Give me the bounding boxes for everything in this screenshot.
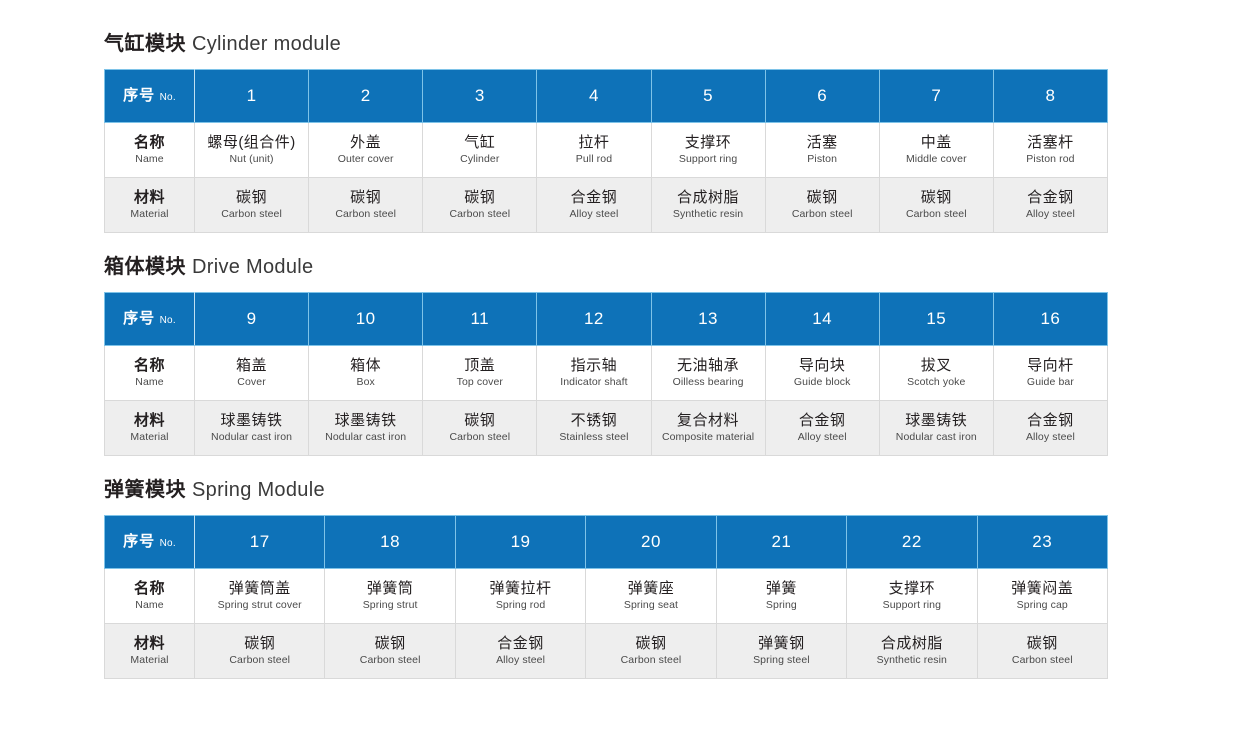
row-label-material: 材料 Material [105, 624, 195, 679]
cell-material-cn: 合金钢 [766, 412, 879, 430]
cell-no-value: 20 [641, 532, 661, 551]
cell-no: 21 [716, 516, 846, 569]
cell-name-cn: 箱体 [309, 357, 422, 375]
cell-no: 7 [879, 70, 993, 123]
row-label-no-cn: 序号 [123, 310, 155, 327]
cell-name-en: Pull rod [537, 152, 650, 166]
cell-no-value: 13 [698, 309, 718, 328]
cell-name-cn: 螺母(组合件) [195, 134, 308, 152]
cell-name-en: Cover [195, 375, 308, 389]
cell-material-cn: 碳钢 [978, 635, 1107, 653]
cell-no-value: 4 [589, 86, 599, 105]
cell-name-cn: 拉杆 [537, 134, 650, 152]
cell-name-cn: 箱盖 [195, 357, 308, 375]
cell-material-en: Alloy steel [456, 653, 585, 667]
cell-material: 碳钢Carbon steel [423, 401, 537, 456]
cell-name-en: Top cover [423, 375, 536, 389]
cell-name-en: Outer cover [309, 152, 422, 166]
cell-material-en: Carbon steel [880, 207, 993, 221]
row-label-material: 材料 Material [105, 401, 195, 456]
cell-name-en: Support ring [847, 598, 976, 612]
cell-material-en: Carbon steel [423, 430, 536, 444]
cell-material: 碳钢Carbon steel [325, 624, 455, 679]
cell-material-cn: 碳钢 [880, 189, 993, 207]
cell-no-value: 21 [771, 532, 791, 551]
cell-no-value: 19 [511, 532, 531, 551]
cell-material: 碳钢Carbon steel [195, 624, 325, 679]
cell-name-cn: 支撑环 [847, 580, 976, 598]
cell-name-cn: 指示轴 [537, 357, 650, 375]
cell-material: 合金钢Alloy steel [993, 401, 1107, 456]
row-label-name-cn: 名称 [105, 580, 194, 598]
cell-name-en: Nut (unit) [195, 152, 308, 166]
cell-name: 顶盖Top cover [423, 346, 537, 401]
cell-material-en: Nodular cast iron [880, 430, 993, 444]
row-label-material-en: Material [105, 207, 194, 221]
table-row-no: 序号 No. 9 10 11 12 13 14 15 16 [105, 293, 1108, 346]
cell-name: 导向杆Guide bar [993, 346, 1107, 401]
row-label-no: 序号 No. [105, 516, 195, 569]
cell-name-cn: 弹簧座 [586, 580, 715, 598]
cell-material-cn: 合成树脂 [652, 189, 765, 207]
cell-material: 碳钢Carbon steel [309, 178, 423, 233]
section-spring-module: 弹簧模块Spring Module 序号 No. 17 18 19 20 21 … [104, 456, 1240, 679]
cell-material: 合金钢Alloy steel [765, 401, 879, 456]
cell-no: 16 [993, 293, 1107, 346]
cell-material: 合金钢Alloy steel [993, 178, 1107, 233]
cell-name: 支撑环Support ring [651, 123, 765, 178]
cell-material: 合成树脂Synthetic resin [847, 624, 977, 679]
cell-name: 外盖Outer cover [309, 123, 423, 178]
cell-material: 碳钢Carbon steel [423, 178, 537, 233]
cell-material-cn: 碳钢 [309, 189, 422, 207]
row-label-name-en: Name [105, 152, 194, 166]
cell-no: 6 [765, 70, 879, 123]
cell-name-cn: 导向块 [766, 357, 879, 375]
cell-name-cn: 弹簧筒盖 [195, 580, 324, 598]
cell-material-cn: 碳钢 [586, 635, 715, 653]
cell-material: 碳钢Carbon steel [586, 624, 716, 679]
row-label-material: 材料 Material [105, 178, 195, 233]
cell-material-cn: 碳钢 [195, 635, 324, 653]
cell-material-en: Carbon steel [195, 207, 308, 221]
cell-material-cn: 合金钢 [994, 189, 1107, 207]
row-label-material-cn: 材料 [105, 412, 194, 430]
title-spacer [104, 54, 1240, 69]
cell-name: 弹簧闷盖Spring cap [977, 569, 1107, 624]
cell-name-en: Spring cap [978, 598, 1107, 612]
table-row-material: 材料 Material 球墨铸铁Nodular cast iron 球墨铸铁No… [105, 401, 1108, 456]
cell-name: 弹簧筒Spring strut [325, 569, 455, 624]
cell-name: 弹簧筒盖Spring strut cover [195, 569, 325, 624]
cell-material-en: Alloy steel [994, 430, 1107, 444]
cell-no: 23 [977, 516, 1107, 569]
cell-name-en: Middle cover [880, 152, 993, 166]
cell-material-cn: 球墨铸铁 [309, 412, 422, 430]
row-label-no: 序号 No. [105, 70, 195, 123]
cell-name: 拉杆Pull rod [537, 123, 651, 178]
cell-name-cn: 活塞杆 [994, 134, 1107, 152]
cell-no: 18 [325, 516, 455, 569]
cell-material: 碳钢Carbon steel [977, 624, 1107, 679]
cell-name-en: Piston rod [994, 152, 1107, 166]
cell-name-en: Spring strut [325, 598, 454, 612]
table-row-name: 名称 Name 箱盖Cover 箱体Box 顶盖Top cover 指示轴Ind… [105, 346, 1108, 401]
section-title-cn: 箱体模块 [104, 256, 186, 278]
cell-no-value: 2 [361, 86, 371, 105]
cell-name: 中盖Middle cover [879, 123, 993, 178]
table-row-no: 序号 No. 1 2 3 4 5 6 7 8 [105, 70, 1108, 123]
cell-no-value: 3 [475, 86, 485, 105]
cell-material: 合金钢Alloy steel [455, 624, 585, 679]
cell-no-value: 14 [812, 309, 832, 328]
cell-material: 碳钢Carbon steel [765, 178, 879, 233]
cell-material-en: Synthetic resin [847, 653, 976, 667]
cell-material-en: Synthetic resin [652, 207, 765, 221]
cell-material-cn: 不锈钢 [537, 412, 650, 430]
cell-material-cn: 碳钢 [325, 635, 454, 653]
cell-name-en: Oilless bearing [652, 375, 765, 389]
cell-no-value: 6 [817, 86, 827, 105]
spec-table-drive-module: 序号 No. 9 10 11 12 13 14 15 16 名称 Name [104, 292, 1108, 456]
cell-no-value: 1 [247, 86, 257, 105]
cell-material-cn: 弹簧钢 [717, 635, 846, 653]
cell-material-en: Carbon steel [325, 653, 454, 667]
cell-name: 支撑环Support ring [847, 569, 977, 624]
row-label-material-en: Material [105, 430, 194, 444]
cell-name-en: Support ring [652, 152, 765, 166]
cell-material: 弹簧钢Spring steel [716, 624, 846, 679]
row-label-name-cn: 名称 [105, 357, 194, 375]
cell-material-cn: 合金钢 [994, 412, 1107, 430]
cell-name-cn: 气缸 [423, 134, 536, 152]
cell-name: 弹簧座Spring seat [586, 569, 716, 624]
cell-no: 3 [423, 70, 537, 123]
cell-no: 11 [423, 293, 537, 346]
cell-material-en: Spring steel [717, 653, 846, 667]
row-label-name-cn: 名称 [105, 134, 194, 152]
cell-no: 22 [847, 516, 977, 569]
cell-name-cn: 弹簧拉杆 [456, 580, 585, 598]
cell-material-en: Nodular cast iron [195, 430, 308, 444]
cell-no: 13 [651, 293, 765, 346]
section-title-en: Spring Module [192, 479, 325, 501]
cell-name-en: Spring seat [586, 598, 715, 612]
cell-material-en: Alloy steel [537, 207, 650, 221]
section-title-spring-module: 弹簧模块Spring Module [104, 480, 1240, 500]
cell-material-cn: 合金钢 [456, 635, 585, 653]
cell-name-en: Piston [766, 152, 879, 166]
cell-material-cn: 合金钢 [537, 189, 650, 207]
title-spacer [104, 500, 1240, 515]
cell-material-cn: 碳钢 [423, 412, 536, 430]
cell-name-en: Spring rod [456, 598, 585, 612]
section-drive-module: 箱体模块Drive Module 序号 No. 9 10 11 12 13 14… [104, 233, 1240, 456]
cell-no: 17 [195, 516, 325, 569]
table-row-name: 名称 Name 弹簧筒盖Spring strut cover 弹簧筒Spring… [105, 569, 1108, 624]
row-label-no-en: No. [160, 92, 176, 103]
cell-name: 弹簧Spring [716, 569, 846, 624]
section-title-en: Drive Module [192, 256, 313, 278]
cell-material: 碳钢Carbon steel [195, 178, 309, 233]
row-label-no-cn: 序号 [123, 533, 155, 550]
cell-material-en: Carbon steel [423, 207, 536, 221]
cell-no-value: 12 [584, 309, 604, 328]
cell-name-en: Scotch yoke [880, 375, 993, 389]
cell-name: 活塞杆Piston rod [993, 123, 1107, 178]
cell-material-en: Carbon steel [766, 207, 879, 221]
section-title-cn: 气缸模块 [104, 33, 186, 55]
cell-material: 球墨铸铁Nodular cast iron [195, 401, 309, 456]
cell-no: 8 [993, 70, 1107, 123]
cell-no: 5 [651, 70, 765, 123]
row-label-name-en: Name [105, 598, 194, 612]
cell-material-en: Nodular cast iron [309, 430, 422, 444]
cell-name-cn: 外盖 [309, 134, 422, 152]
row-label-material-cn: 材料 [105, 635, 194, 653]
cell-no-value: 8 [1045, 86, 1055, 105]
cell-name: 弹簧拉杆Spring rod [455, 569, 585, 624]
cell-material: 球墨铸铁Nodular cast iron [309, 401, 423, 456]
cell-name-cn: 中盖 [880, 134, 993, 152]
row-label-name-en: Name [105, 375, 194, 389]
cell-material-en: Carbon steel [978, 653, 1107, 667]
cell-material: 球墨铸铁Nodular cast iron [879, 401, 993, 456]
cell-name-en: Box [309, 375, 422, 389]
cell-name-cn: 无油轴承 [652, 357, 765, 375]
cell-no-value: 10 [356, 309, 376, 328]
section-title-cn: 弹簧模块 [104, 479, 186, 501]
cell-material-cn: 碳钢 [195, 189, 308, 207]
cell-name: 活塞Piston [765, 123, 879, 178]
spec-sheet-page: 气缸模块Cylinder module 序号 No. 1 2 3 4 5 6 7 [0, 0, 1240, 735]
row-label-material-en: Material [105, 653, 194, 667]
cell-no: 9 [195, 293, 309, 346]
title-spacer [104, 277, 1240, 292]
cell-material: 碳钢Carbon steel [879, 178, 993, 233]
cell-name: 无油轴承Oilless bearing [651, 346, 765, 401]
cell-name: 气缸Cylinder [423, 123, 537, 178]
cell-no-value: 9 [247, 309, 257, 328]
cell-name-cn: 支撑环 [652, 134, 765, 152]
cell-name-en: Cylinder [423, 152, 536, 166]
cell-name-cn: 顶盖 [423, 357, 536, 375]
table-row-material: 材料 Material 碳钢Carbon steel 碳钢Carbon stee… [105, 178, 1108, 233]
cell-no: 12 [537, 293, 651, 346]
cell-name: 螺母(组合件)Nut (unit) [195, 123, 309, 178]
cell-material-cn: 碳钢 [423, 189, 536, 207]
cell-material: 合金钢Alloy steel [537, 178, 651, 233]
spec-table-cylinder-module: 序号 No. 1 2 3 4 5 6 7 8 名称 Name [104, 69, 1108, 233]
cell-material-en: Carbon steel [309, 207, 422, 221]
cell-no-value: 16 [1040, 309, 1060, 328]
cell-name-en: Spring strut cover [195, 598, 324, 612]
cell-no: 15 [879, 293, 993, 346]
section-title-en: Cylinder module [192, 33, 341, 55]
section-cylinder-module: 气缸模块Cylinder module 序号 No. 1 2 3 4 5 6 7 [104, 0, 1240, 233]
cell-name-cn: 拔叉 [880, 357, 993, 375]
cell-material-en: Carbon steel [195, 653, 324, 667]
cell-no: 4 [537, 70, 651, 123]
row-label-name: 名称 Name [105, 123, 195, 178]
row-label-no-cn: 序号 [123, 87, 155, 104]
cell-no: 2 [309, 70, 423, 123]
cell-material-en: Composite material [652, 430, 765, 444]
cell-material: 复合材料Composite material [651, 401, 765, 456]
cell-name-en: Guide bar [994, 375, 1107, 389]
row-label-name: 名称 Name [105, 346, 195, 401]
cell-name-en: Spring [717, 598, 846, 612]
cell-material-en: Stainless steel [537, 430, 650, 444]
cell-no: 19 [455, 516, 585, 569]
cell-no-value: 7 [931, 86, 941, 105]
table-row-material: 材料 Material 碳钢Carbon steel 碳钢Carbon stee… [105, 624, 1108, 679]
cell-material-en: Carbon steel [586, 653, 715, 667]
cell-material-en: Alloy steel [766, 430, 879, 444]
cell-no: 14 [765, 293, 879, 346]
section-title-cylinder-module: 气缸模块Cylinder module [104, 34, 1240, 54]
row-label-no-en: No. [160, 538, 176, 549]
row-label-name: 名称 Name [105, 569, 195, 624]
cell-name-cn: 活塞 [766, 134, 879, 152]
row-label-no-en: No. [160, 315, 176, 326]
row-label-material-cn: 材料 [105, 189, 194, 207]
cell-name-en: Indicator shaft [537, 375, 650, 389]
cell-material: 合成树脂Synthetic resin [651, 178, 765, 233]
cell-material-en: Alloy steel [994, 207, 1107, 221]
cell-name-cn: 弹簧筒 [325, 580, 454, 598]
cell-no-value: 11 [470, 309, 489, 328]
cell-material-cn: 复合材料 [652, 412, 765, 430]
cell-material-cn: 球墨铸铁 [880, 412, 993, 430]
cell-no-value: 23 [1032, 532, 1052, 551]
cell-no: 1 [195, 70, 309, 123]
cell-no-value: 5 [703, 86, 713, 105]
table-row-no: 序号 No. 17 18 19 20 21 22 23 [105, 516, 1108, 569]
cell-name-cn: 导向杆 [994, 357, 1107, 375]
cell-name: 指示轴Indicator shaft [537, 346, 651, 401]
row-label-no: 序号 No. [105, 293, 195, 346]
spec-table-spring-module: 序号 No. 17 18 19 20 21 22 23 名称 Name [104, 515, 1108, 679]
cell-no-value: 17 [250, 532, 270, 551]
cell-no-value: 15 [926, 309, 946, 328]
cell-name: 箱体Box [309, 346, 423, 401]
cell-name-cn: 弹簧闷盖 [978, 580, 1107, 598]
cell-name: 拔叉Scotch yoke [879, 346, 993, 401]
cell-material-cn: 合成树脂 [847, 635, 976, 653]
cell-name-en: Guide block [766, 375, 879, 389]
cell-name-cn: 弹簧 [717, 580, 846, 598]
cell-material-cn: 碳钢 [766, 189, 879, 207]
cell-name: 导向块Guide block [765, 346, 879, 401]
section-title-drive-module: 箱体模块Drive Module [104, 257, 1240, 277]
cell-no: 10 [309, 293, 423, 346]
cell-name: 箱盖Cover [195, 346, 309, 401]
cell-material: 不锈钢Stainless steel [537, 401, 651, 456]
cell-material-cn: 球墨铸铁 [195, 412, 308, 430]
cell-no-value: 18 [380, 532, 400, 551]
cell-no: 20 [586, 516, 716, 569]
table-row-name: 名称 Name 螺母(组合件)Nut (unit) 外盖Outer cover … [105, 123, 1108, 178]
cell-no-value: 22 [902, 532, 922, 551]
